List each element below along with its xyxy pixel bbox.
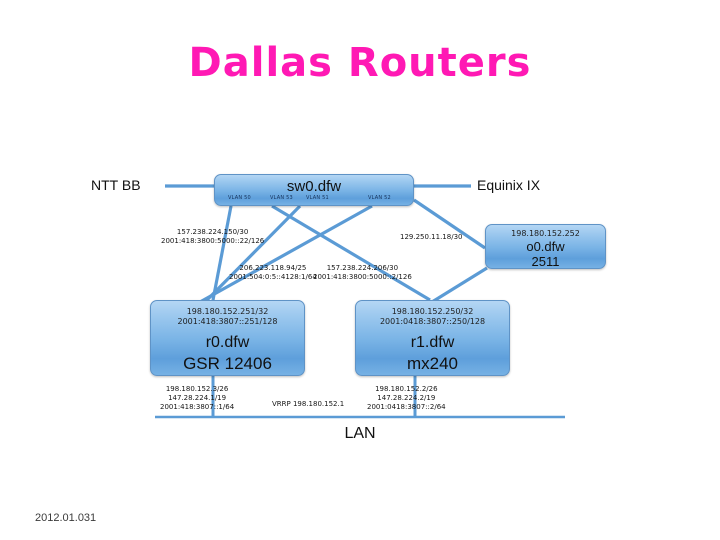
vlan-label-52: VLAN 52 [368, 195, 391, 201]
link-vlan53-to-r1 [272, 206, 430, 300]
node-sw0-dfw[interactable]: sw0.dfw VLAN 50 VLAN 53 VLAN 51 VLAN 52 [214, 174, 414, 206]
annotation-lan-right-ipv4-b: 147.28.224.2/19 [367, 394, 446, 403]
node-o0-dfw[interactable]: 198.180.152.252 o0.dfw 2511 [485, 224, 606, 269]
node-r1-name: r1.dfw [356, 327, 509, 353]
annotation-lan-right-ipv4-a: 198.180.152.2/26 [367, 385, 446, 394]
annotation-r1-uplink-ipv4: 157.238.224.206/30 [313, 264, 412, 273]
annotation-ntt-uplink-ipv6: 2001:418:3800:5000::22/126 [161, 237, 264, 246]
annotation-r1-uplink: 157.238.224.206/30 2001:418:3800:5000::2… [313, 264, 412, 282]
node-r1-ipv4: 198.180.152.250/32 [356, 301, 509, 317]
annotation-lan-left-ipv4-b: 147.28.224.1/19 [160, 394, 234, 403]
node-r1-ipv6: 2001:0418:3807::250/128 [356, 317, 509, 327]
annotation-lan-left: 198.180.152.3/26 147.28.224.1/19 2001:41… [160, 385, 234, 412]
lan-label: LAN [0, 425, 720, 443]
external-label-equinix-ix: Equinix IX [477, 177, 540, 193]
node-r0-ipv4: 198.180.152.251/32 [151, 301, 304, 317]
annotation-o0-link: 129.250.11.18/30 [400, 233, 462, 242]
external-label-ntt-bb: NTT BB [91, 177, 141, 193]
node-r1-model: mx240 [356, 353, 509, 374]
annotation-ntt-uplink: 157.238.224.150/30 2001:418:3800:5000::2… [161, 228, 264, 246]
vlan-port-row: VLAN 50 VLAN 53 VLAN 51 VLAN 52 [215, 195, 413, 203]
annotation-lan-left-ipv6: 2001:418:3807::1/64 [160, 403, 234, 412]
slide-canvas: Dallas Routers NTT [0, 0, 720, 540]
annotation-ntt-uplink-ipv4: 157.238.224.150/30 [161, 228, 264, 237]
annotation-equinix-ix-ipv6: 2001:504:0:5::4128:1/64 [229, 273, 317, 282]
annotation-r1-uplink-ipv6: 2001:418:3800:5000::2/126 [313, 273, 412, 282]
node-r0-model: GSR 12406 [151, 353, 304, 374]
node-o0-model: 2511 [486, 254, 605, 269]
annotation-equinix-ix: 206.223.118.94/25 2001:504:0:5::4128:1/6… [229, 264, 317, 282]
vlan-label-53: VLAN 53 [270, 195, 293, 201]
annotation-lan-right: 198.180.152.2/26 147.28.224.2/19 2001:04… [367, 385, 446, 412]
node-r0-name: r0.dfw [151, 327, 304, 353]
node-o0-ip: 198.180.152.252 [486, 225, 605, 239]
node-r1-dfw[interactable]: 198.180.152.250/32 2001:0418:3807::250/1… [355, 300, 510, 376]
link-o0-to-r1 [432, 268, 487, 302]
node-r0-ipv6: 2001:418:3807::251/128 [151, 317, 304, 327]
annotation-equinix-ix-ipv4: 206.223.118.94/25 [229, 264, 317, 273]
node-sw0-name: sw0.dfw [215, 175, 413, 195]
node-r0-dfw[interactable]: 198.180.152.251/32 2001:418:3807::251/12… [150, 300, 305, 376]
annotation-lan-left-ipv4-a: 198.180.152.3/26 [160, 385, 234, 394]
vlan-label-50: VLAN 50 [228, 195, 251, 201]
slide-datestamp: 2012.01.031 [35, 512, 96, 524]
annotation-lan-right-ipv6: 2001:0418:3807::2/64 [367, 403, 446, 412]
vlan-label-51: VLAN 51 [306, 195, 329, 201]
node-o0-name: o0.dfw [486, 239, 605, 254]
annotation-o0-link-ipv4: 129.250.11.18/30 [400, 233, 462, 242]
annotation-vrrp: VRRP 198.180.152.1 [272, 400, 344, 409]
